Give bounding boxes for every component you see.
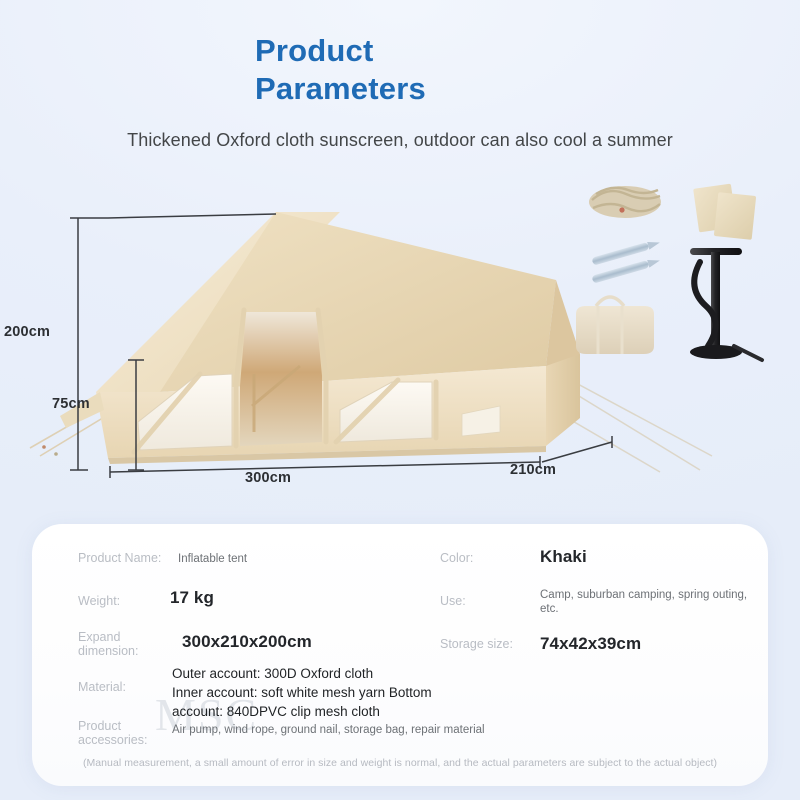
spec-value-product-name: Inflatable tent <box>178 552 247 566</box>
spec-value-storage-size: 74x42x39cm <box>540 634 641 654</box>
spec-label-expand-dimension: Expand dimension: <box>78 630 174 658</box>
spec-label-material: Material: <box>78 680 126 694</box>
tent-diagram <box>0 170 800 500</box>
spec-label-color: Color: <box>440 551 473 565</box>
dimension-label-height-total: 200cm <box>4 324 50 340</box>
wind-rope-coil <box>589 186 661 218</box>
air-pump <box>690 248 762 360</box>
guy-line-tensioner <box>42 445 46 449</box>
spec-value-color: Khaki <box>540 547 587 567</box>
spec-label-storage-size: Storage size: <box>440 637 513 651</box>
spec-value-accessories: Air pump, wind rope, ground nail, storag… <box>172 723 485 737</box>
spec-value-use: Camp, suburban camping, spring outing, e… <box>540 588 768 616</box>
tent-body <box>60 212 580 464</box>
spec-label-accessories: Product accessories: <box>78 719 174 747</box>
dimension-label-width: 300cm <box>245 470 291 486</box>
repair-patches <box>693 184 756 240</box>
page-subtitle: Thickened Oxford cloth sunscreen, outdoo… <box>0 130 800 151</box>
disclaimer-text: (Manual measurement, a small amount of e… <box>0 757 800 769</box>
ground-nails <box>591 239 660 284</box>
spec-label-product-name: Product Name: <box>78 551 161 565</box>
spec-label-weight: Weight: <box>78 594 120 608</box>
spec-value-material: Outer account: 300D Oxford cloth Inner a… <box>172 664 482 721</box>
spec-label-use: Use: <box>440 594 466 608</box>
dimension-label-depth: 210cm <box>510 462 556 478</box>
storage-bag <box>576 297 654 354</box>
spec-value-weight: 17 kg <box>170 588 214 608</box>
guy-line-tensioner <box>54 452 58 456</box>
dimension-label-height-wall: 75cm <box>52 396 90 412</box>
tent-illustration-svg <box>0 170 800 500</box>
product-parameter-infographic: Product Parameters Thickened Oxford clot… <box>0 0 800 800</box>
page-title: Product Parameters <box>255 32 545 108</box>
tent-door <box>240 312 322 446</box>
spec-value-expand-dimension: 300x210x200cm <box>182 632 312 652</box>
